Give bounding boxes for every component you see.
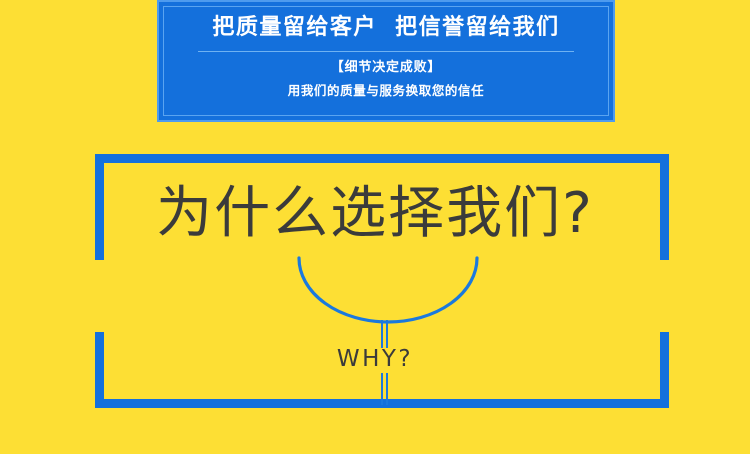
page-title: 为什么选择我们? [0, 186, 750, 242]
banner-subtitle-2: 用我们的质量与服务换取您的信任 [288, 83, 485, 99]
connector-line-left [381, 320, 383, 348]
double-vertical-line-lower [381, 373, 388, 405]
banner-headline: 把质量留给客户 把信誉留给我们 [212, 14, 559, 42]
poster-root: 把质量留给客户 把信誉留给我们 【细节决定成败】 用我们的质量与服务换取您的信任… [0, 0, 750, 454]
why-label: WHY? [0, 348, 750, 371]
connector-line-right [386, 320, 388, 348]
u-arc-divider-icon [296, 256, 480, 326]
double-vertical-line-upper [381, 320, 388, 348]
connector-line-right [386, 373, 388, 405]
banner-content: 把质量留给客户 把信誉留给我们 【细节决定成败】 用我们的质量与服务换取您的信任 [159, 2, 613, 120]
top-banner: 把质量留给客户 把信誉留给我们 【细节决定成败】 用我们的质量与服务换取您的信任 [157, 0, 615, 122]
frame-top-bar [95, 154, 669, 163]
banner-subtitle-1: 【细节决定成败】 [331, 60, 441, 77]
banner-divider [198, 51, 574, 52]
connector-line-left [381, 373, 383, 405]
